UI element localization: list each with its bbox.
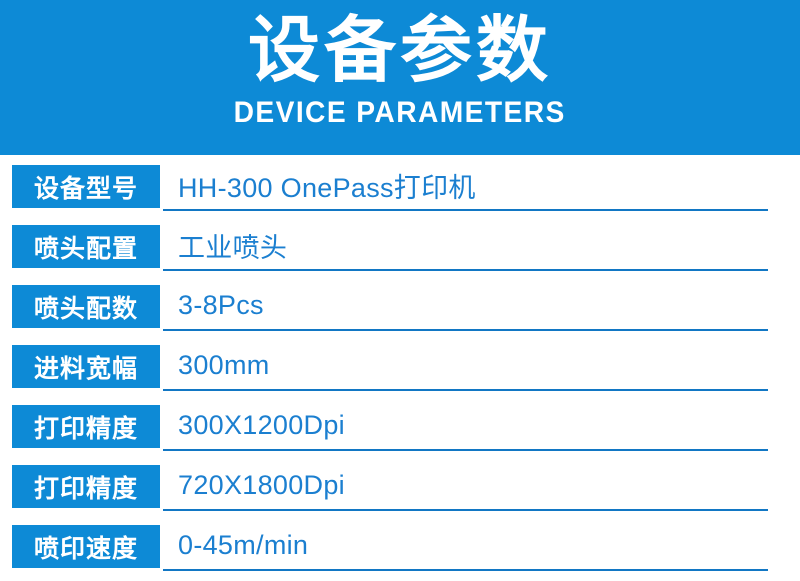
spec-value: HH-300 OnePass打印机 (178, 155, 476, 215)
row-divider (163, 209, 768, 211)
table-row: 设备型号 HH-300 OnePass打印机 (0, 155, 800, 215)
spec-table: 设备型号 HH-300 OnePass打印机 喷头配置 工业喷头 喷头配数 3-… (0, 155, 800, 581)
row-divider (163, 449, 768, 451)
row-divider (163, 329, 768, 331)
row-divider (163, 269, 768, 271)
spec-value: 3-8Pcs (178, 275, 264, 335)
table-row: 喷印速度 0-45m/min (0, 515, 800, 575)
table-row: 打印精度 720X1800Dpi (0, 455, 800, 515)
page-title-chinese: 设备参数 (248, 8, 552, 94)
row-divider (163, 509, 768, 511)
spec-label-badge: 喷头配置 (12, 225, 160, 268)
row-divider (163, 569, 768, 571)
spec-label-badge: 设备型号 (12, 165, 160, 208)
table-row: 喷头配数 3-8Pcs (0, 275, 800, 335)
spec-value: 0-45m/min (178, 515, 308, 575)
spec-value: 300mm (178, 335, 270, 395)
table-row: 进料宽幅 300mm (0, 335, 800, 395)
spec-label-badge: 喷印速度 (12, 525, 160, 568)
table-row: 喷头配置 工业喷头 (0, 215, 800, 275)
spec-value: 300X1200Dpi (178, 395, 345, 455)
spec-value: 工业喷头 (178, 215, 287, 275)
row-divider (163, 389, 768, 391)
spec-value: 720X1800Dpi (178, 455, 345, 515)
page-header: 设备参数 DEVICE PARAMETERS (0, 0, 800, 155)
spec-label-badge: 进料宽幅 (12, 345, 160, 388)
spec-label-badge: 打印精度 (12, 465, 160, 508)
device-parameters-page: 设备参数 DEVICE PARAMETERS 设备型号 HH-300 OnePa… (0, 0, 800, 581)
spec-label-badge: 打印精度 (12, 405, 160, 448)
page-title-english: DEVICE PARAMETERS (234, 96, 566, 130)
table-row: 打印精度 300X1200Dpi (0, 395, 800, 455)
spec-label-badge: 喷头配数 (12, 285, 160, 328)
